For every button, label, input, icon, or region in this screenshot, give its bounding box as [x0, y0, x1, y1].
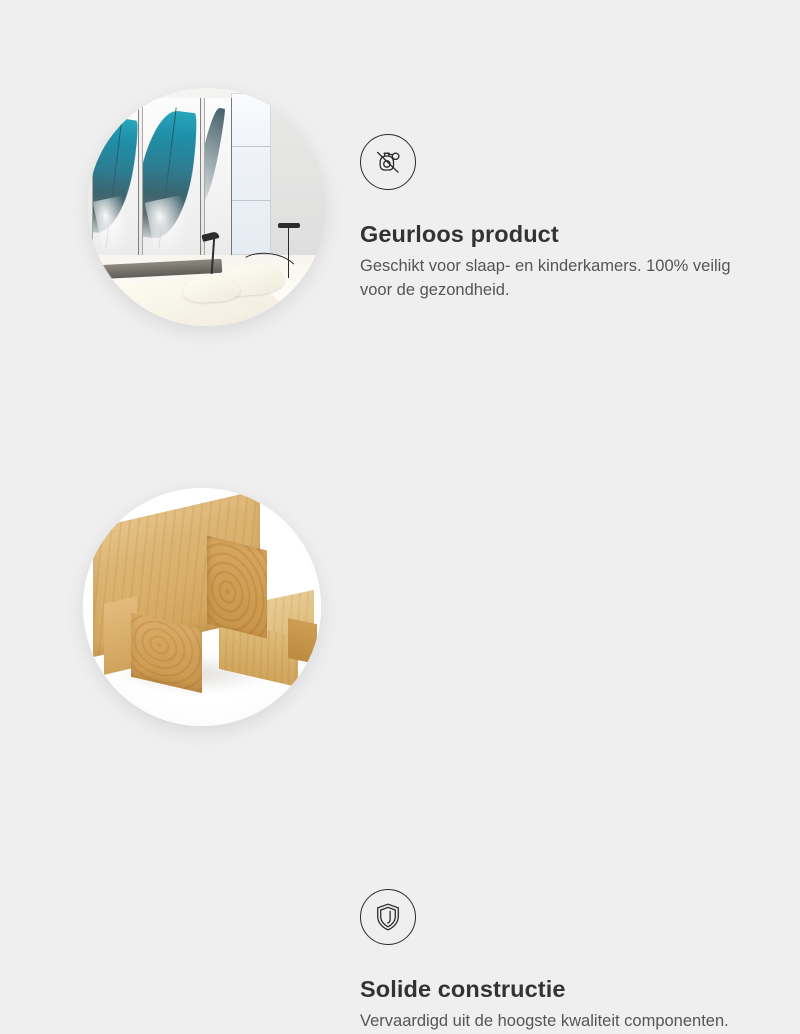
feature-text-solid-construction: Solide constructie Vervaardigd uit de ho…	[360, 889, 760, 1034]
photo-wood-blocks	[83, 488, 321, 726]
feather-soft-barbs	[144, 194, 195, 256]
feature-description: Vervaardigd uit de hoogste kwaliteit com…	[360, 1010, 746, 1033]
feather-shape	[205, 107, 226, 205]
wood-block-right-endgrain	[288, 618, 317, 665]
no-perfume-glyph	[371, 145, 405, 179]
no-perfume-icon	[360, 134, 416, 190]
feature-block-solid-construction: Solide constructie Vervaardigd uit de ho…	[0, 400, 800, 800]
shield-glyph	[371, 900, 405, 934]
feature-title: Solide constructie	[360, 975, 760, 1003]
wall-lamp-shade	[278, 223, 299, 228]
art-panel-left	[93, 98, 138, 260]
photo-bedroom	[88, 88, 326, 326]
art-panel-center	[143, 98, 200, 260]
product-features-page: Geurloos product Geschikt voor slaap- en…	[0, 0, 800, 800]
feature-text-odourless-product: Geurloos product Geschikt voor slaap- en…	[360, 134, 760, 302]
shield-icon	[360, 889, 416, 945]
feature-description: Geschikt voor slaap- en kinderkamers. 10…	[360, 255, 746, 302]
bedroom-feather-triptych-photo	[88, 88, 326, 326]
feature-block-odourless-product: Geurloos product Geschikt voor slaap- en…	[0, 0, 800, 400]
wood-block-large-endgrain	[207, 535, 267, 638]
feather-soft-barbs	[93, 195, 135, 255]
wall-right	[271, 88, 326, 259]
wooden-beam-blocks-photo	[83, 488, 321, 726]
feature-title: Geurloos product	[360, 220, 760, 248]
window	[231, 93, 271, 255]
